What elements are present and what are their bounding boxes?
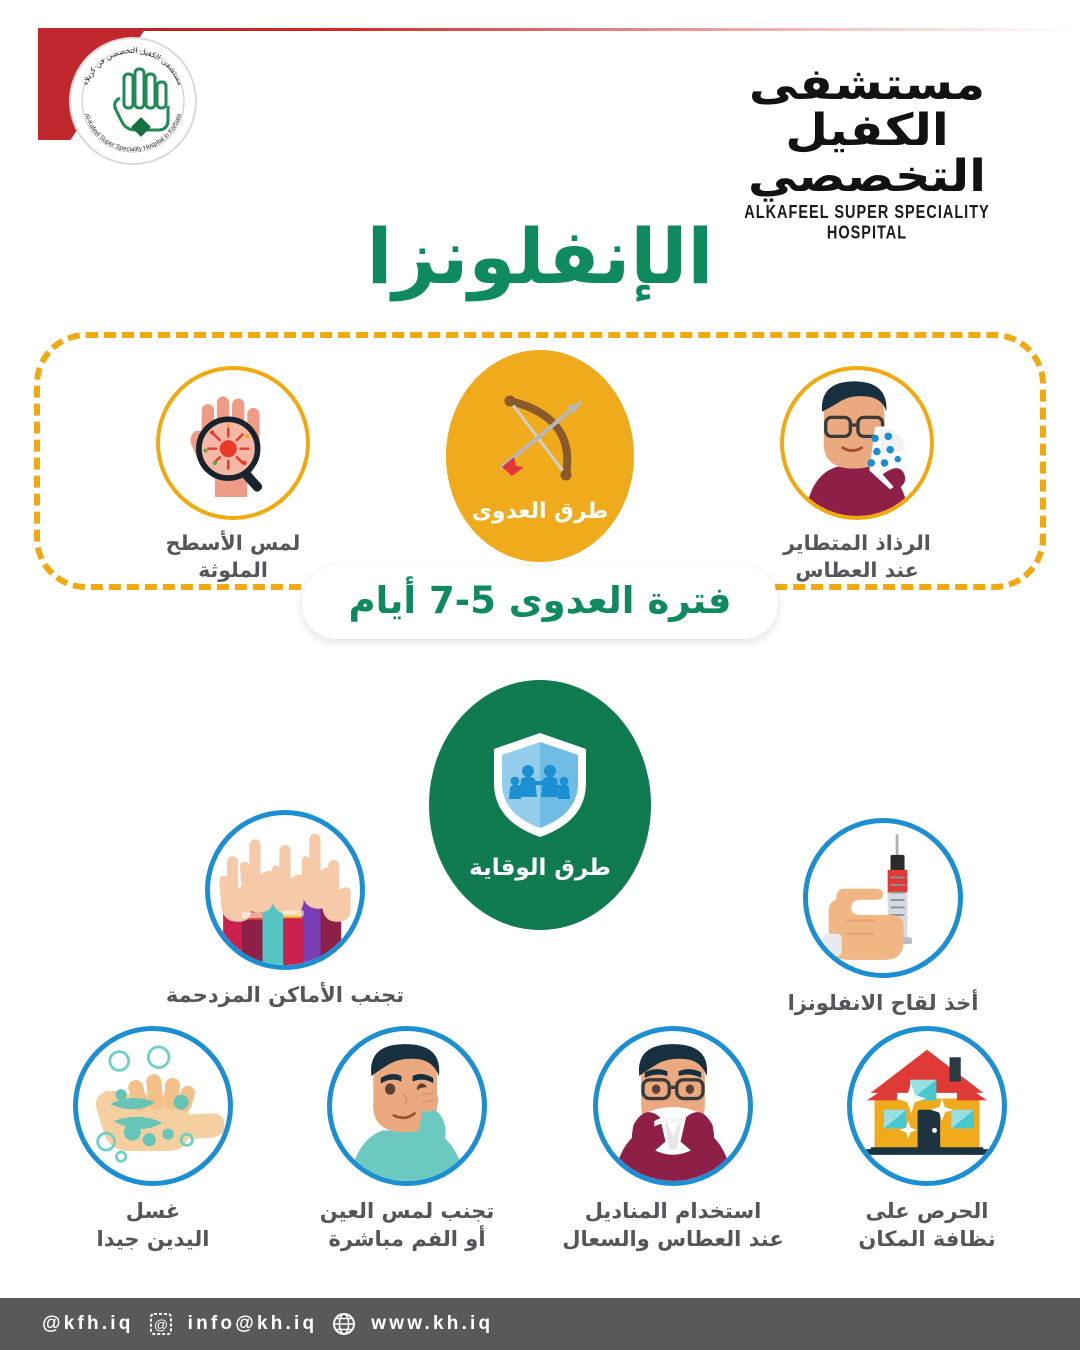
man-tissue-icon bbox=[593, 1026, 753, 1186]
footer-social-handle[interactable]: @kfh.iq bbox=[42, 1313, 134, 1335]
footer-email[interactable]: info@kh.iq bbox=[188, 1313, 318, 1335]
transmission-center-bubble: طرق العدوى bbox=[446, 350, 634, 562]
prevention-label-tissues: استخدام المناديل عند العطاس والسعال bbox=[548, 1197, 798, 1253]
header-rule bbox=[60, 28, 1080, 31]
page-title: الإنفلونزا bbox=[0, 212, 1080, 301]
transmission-label-droplets: الرذاذ المتطاير عند العطاس bbox=[742, 530, 972, 584]
prevention-item-crowds: تجنب الأماكن المزدحمة bbox=[160, 810, 410, 1009]
footer-website[interactable]: www.kh.iq bbox=[371, 1313, 493, 1335]
bow-and-arrow-icon bbox=[484, 389, 596, 489]
prevention-label-avoid-face-touch: تجنب لمس العين أو الفم مباشرة bbox=[282, 1197, 532, 1253]
sneezing-man-droplets-icon bbox=[780, 366, 934, 520]
infection-period-badge: فترة العدوى 5-7 أيام bbox=[302, 566, 777, 639]
transmission-item-droplets: الرذاذ المتطاير عند العطاس bbox=[742, 366, 972, 584]
prevention-center-bubble: طرق الوقاية bbox=[429, 680, 651, 930]
globe-icon bbox=[331, 1311, 357, 1337]
brand-arabic-calligraphy: مستشفى الكفيل التخصصي bbox=[682, 62, 1052, 201]
prevention-item-clean-place: الحرص على نظافة المكان bbox=[802, 1026, 1052, 1253]
clean-house-icon bbox=[847, 1026, 1007, 1186]
shield-family-icon bbox=[488, 729, 592, 841]
transmission-item-surfaces: لمس الأسطح الملوثة bbox=[118, 366, 348, 584]
prevention-item-vaccine: أخذ لقاح الانفلونزا bbox=[758, 818, 1008, 1017]
prevention-item-wash-hands: غسل اليدين جيدا bbox=[28, 1026, 278, 1253]
hand-magnifier-germs-icon bbox=[156, 366, 310, 520]
prevention-center-label: طرق الوقاية bbox=[469, 855, 611, 881]
prevention-label-clean-place: الحرص على نظافة المكان bbox=[802, 1197, 1052, 1253]
hospital-seal-logo: مستشفى الكفيل التخصصي في كربلاء Al-Kafee… bbox=[68, 36, 198, 166]
footer-contact-strip: @kfh.iq @ info@kh.iq www.kh.iq bbox=[0, 1298, 1080, 1350]
transmission-center-label: طرق العدوى bbox=[472, 499, 609, 524]
raised-hands-crowd-icon bbox=[205, 810, 365, 970]
email-icon: @ bbox=[148, 1311, 174, 1337]
prevention-item-avoid-face-touch: تجنب لمس العين أو الفم مباشرة bbox=[282, 1026, 532, 1253]
prevention-label-wash-hands: غسل اليدين جيدا bbox=[28, 1197, 278, 1253]
prevention-item-tissues: استخدام المناديل عند العطاس والسعال bbox=[548, 1026, 798, 1253]
transmission-panel: لمس الأسطح الملوثة طرق العدوى bbox=[34, 332, 1046, 590]
man-touching-face-icon bbox=[327, 1026, 487, 1186]
svg-text:@: @ bbox=[153, 1317, 167, 1333]
poster-canvas: مستشفى الكفيل التخصصي في كربلاء Al-Kafee… bbox=[0, 0, 1080, 1350]
prevention-label-crowds: تجنب الأماكن المزدحمة bbox=[160, 981, 410, 1009]
syringe-in-hand-icon bbox=[803, 818, 963, 978]
washing-hands-icon bbox=[73, 1026, 233, 1186]
prevention-label-vaccine: أخذ لقاح الانفلونزا bbox=[758, 989, 1008, 1017]
